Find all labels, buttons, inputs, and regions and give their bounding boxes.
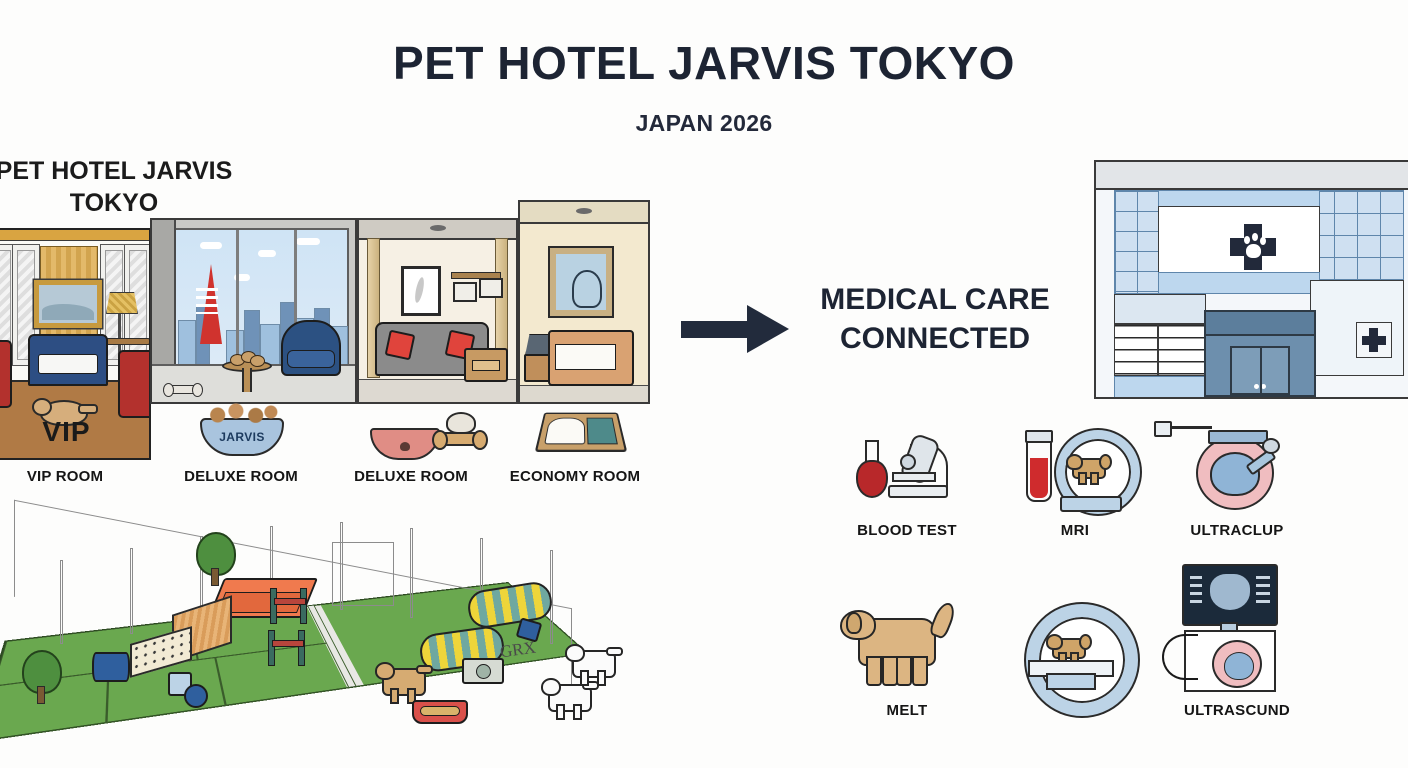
service-label: MRI (1000, 522, 1150, 539)
framed-artwork (401, 266, 441, 316)
vip-wall (0, 230, 149, 382)
ultrasound-probe (1246, 434, 1280, 464)
arrow-head (747, 305, 789, 353)
service-mri-1: MRI (1000, 420, 1150, 539)
kibble (204, 403, 280, 423)
crown-molding (0, 230, 149, 241)
dog-icon (832, 600, 982, 696)
ceiling-with-light (359, 220, 516, 240)
medical-cross-icon (1356, 322, 1392, 358)
ceiling-with-light (520, 202, 648, 224)
hospital-entrance (1204, 310, 1316, 397)
food-bowl-icon: JARVIS (200, 418, 284, 456)
mri-tube-ring-icon (1000, 420, 1150, 516)
dog-illustration (548, 684, 592, 712)
microscope-icon (884, 432, 948, 498)
room-label-vip: VIP ROOM (0, 468, 140, 485)
blood-test-icon (832, 420, 982, 516)
vip-badge: VIP (0, 416, 149, 448)
service-mri-2: MRI (1000, 596, 1150, 715)
page-subtitle: JAPAN 2026 (0, 110, 1408, 137)
pet-sofa-bed (28, 334, 108, 386)
dog-silhouette-artwork (550, 248, 612, 316)
page-title: PET HOTEL JARVIS TOKYO (0, 36, 1408, 90)
agility-hurdle (268, 630, 304, 664)
dog-illustration (572, 650, 616, 678)
window-grid (1310, 190, 1404, 280)
sofa-room-icon (357, 218, 518, 404)
service-label: MELT (832, 702, 982, 719)
service-ultrasound-1: ULTRACLUP (1162, 420, 1312, 539)
service-label: ULTRACLUP (1162, 522, 1312, 539)
yard-gate (332, 542, 394, 606)
facade-louvers (1158, 324, 1206, 376)
service-blood-test: BLOOD TEST (832, 420, 982, 539)
ultrasound-machine-icon (1162, 564, 1312, 696)
dog-illustration (858, 618, 936, 666)
medical-care-line1: MEDICAL CARE (800, 280, 1070, 319)
glass-panel (1114, 376, 1206, 399)
left-heading-line1: PET HOTEL JARVIS (0, 155, 254, 187)
ultrasound-monitor (1182, 564, 1278, 626)
entrance-doors[interactable] (1230, 346, 1290, 395)
mri-base (1046, 673, 1096, 690)
bowl-brand-label: JARVIS (202, 430, 282, 444)
tokyo-view-room-icon (150, 218, 357, 404)
facade-band (1114, 294, 1206, 324)
dog-illustration (1072, 458, 1106, 479)
flask-icon (856, 440, 884, 498)
entrance-header (1206, 312, 1314, 336)
agility-hurdle (270, 588, 306, 622)
treats-on-table (230, 354, 260, 364)
glass-panel (1158, 272, 1320, 294)
medical-care-line2: CONNECTED (800, 319, 1070, 358)
hanging-box (453, 282, 477, 302)
framed-artwork (34, 280, 102, 328)
mri-machine-icon (1000, 596, 1150, 692)
dog-with-bone-icon (434, 412, 490, 456)
veterinary-hospital-building (1094, 160, 1408, 399)
bone-toy-icon (168, 385, 198, 394)
service-ultrasound-2: ULTRASCUND (1162, 564, 1312, 719)
poster-canvas: PET HOTEL JARVIS TOKYO JAPAN 2026 PET HO… (0, 0, 1408, 768)
blue-armchair (281, 320, 341, 376)
hanging-box (479, 278, 503, 298)
water-bowl-icon (370, 428, 440, 460)
left-section-heading: PET HOTEL JARVIS TOKYO (0, 155, 254, 219)
side-table (464, 348, 508, 382)
red-pillow (385, 330, 416, 361)
service-label: ULTRASCUND (1162, 702, 1312, 719)
yard-food-tray (412, 700, 468, 724)
facade-louvers (1114, 324, 1158, 376)
hospital-roof (1096, 162, 1408, 190)
room-floor (520, 385, 648, 402)
test-tube-icon (1026, 436, 1052, 502)
pet-bed (548, 330, 634, 386)
service-label: BLOOD TEST (832, 522, 982, 539)
window-grid (1114, 190, 1160, 294)
dog-play-yard-diagram (0, 512, 660, 762)
floor-rug (359, 379, 516, 402)
lamp-shade (106, 292, 138, 314)
dog-illustration (1052, 638, 1086, 659)
room-label-deluxe-1: DELUXE ROOM (166, 468, 316, 485)
red-armchair (0, 340, 12, 408)
ultrasound-arm (1166, 426, 1212, 429)
left-heading-line2: TOKYO (0, 187, 254, 219)
toy-barrel (92, 652, 130, 682)
room-label-economy: ECONOMY ROOM (498, 468, 652, 485)
mri-base (1060, 496, 1122, 512)
room-label-deluxe-2: DELUXE ROOM (336, 468, 486, 485)
paw-cross-icon (1230, 224, 1276, 270)
ultrasound-round-icon (1162, 420, 1312, 516)
dog-illustration (382, 668, 426, 696)
arrow-shaft (681, 321, 753, 338)
medical-care-heading: MEDICAL CARE CONNECTED (800, 280, 1070, 358)
scan-image (1210, 574, 1250, 610)
right-arrow-icon (681, 305, 789, 353)
red-armchair (118, 350, 151, 418)
vip-suite-icon: VIP (0, 228, 151, 460)
economy-bed-icon (518, 200, 650, 404)
yard-camera-icon (462, 658, 504, 684)
pet-bed-tray-icon (535, 413, 628, 452)
service-melt: MELT (832, 600, 982, 719)
probe-cord (1162, 634, 1198, 680)
toy-ball (184, 684, 208, 708)
